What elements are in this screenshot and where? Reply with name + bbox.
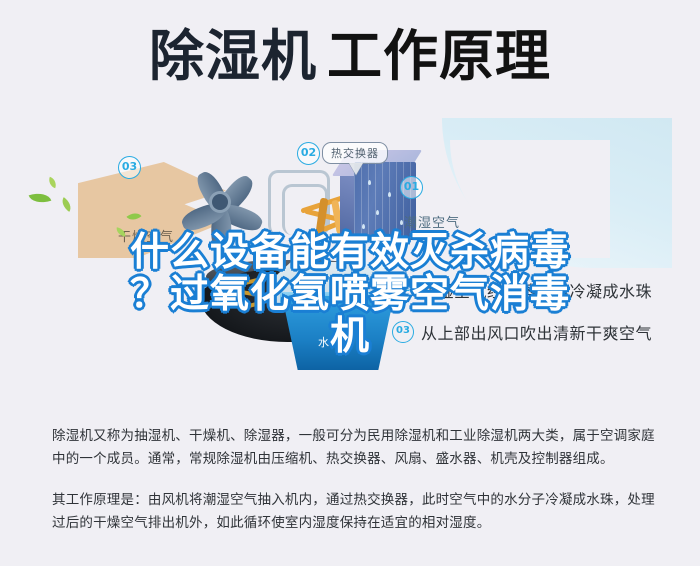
water-tank	[282, 296, 394, 370]
water-droplet-icon	[362, 224, 365, 229]
article-body: 除湿机又称为抽湿机、干燥机、除湿器，一般可分为民用除湿机和工业除湿机两大类，属于…	[52, 425, 656, 535]
legend-item: 02 潮湿空气经过蒸发器冷凝成水珠	[392, 278, 692, 302]
badge-01-humid-air: 01	[400, 176, 423, 199]
leaf-icon	[59, 197, 75, 212]
diagram-legend: 02 潮湿空气经过蒸发器冷凝成水珠 03 从上部出风口吹出清新干爽空气	[392, 278, 692, 362]
water-droplet-icon	[388, 192, 391, 197]
water-droplet-icon	[400, 220, 403, 225]
legend-number: 02	[392, 279, 414, 301]
fan-illustration	[178, 162, 274, 248]
water-tank-label: 水箱	[318, 334, 342, 350]
water-droplet-icon	[376, 210, 379, 215]
legend-label: 从上部出风口吹出清新干爽空气	[421, 320, 652, 344]
legend-item: 03 从上部出风口吹出清新干爽空气	[392, 320, 692, 344]
water-droplet-icon	[368, 180, 371, 185]
badge-02-heat-exchanger: 02	[297, 142, 320, 165]
body-paragraph-1: 除湿机又称为抽湿机、干燥机、除湿器，一般可分为民用除湿机和工业除湿机两大类，属于…	[52, 425, 656, 471]
page-title-primary: 除湿机	[149, 29, 317, 84]
fan-hub	[212, 194, 228, 210]
heat-exchanger-callout: 热交换器	[322, 142, 388, 164]
humid-airflow-inner-shape	[450, 140, 610, 258]
page-title: 除湿机 工作原理	[0, 18, 700, 94]
leaf-icon	[47, 177, 59, 189]
legend-label: 潮湿空气经过蒸发器冷凝成水珠	[421, 278, 652, 302]
dehumidifier-diagram: 干燥空气	[0, 100, 700, 400]
dry-air-label: 干燥空气	[118, 226, 174, 245]
page-title-secondary: 工作原理	[327, 29, 551, 84]
body-paragraph-2: 其工作原理是：由风机将潮湿空气抽入机内，通过热交换器，此时空气中的水分子冷凝成水…	[52, 489, 656, 535]
page-root: 除湿机 工作原理 干燥空气	[0, 0, 700, 566]
leaf-icon	[29, 189, 52, 207]
inner-coil	[232, 276, 280, 316]
legend-number: 03	[392, 321, 414, 343]
humid-air-label: 潮湿空气	[404, 212, 460, 231]
badge-03-dry-air: 03	[118, 156, 141, 179]
